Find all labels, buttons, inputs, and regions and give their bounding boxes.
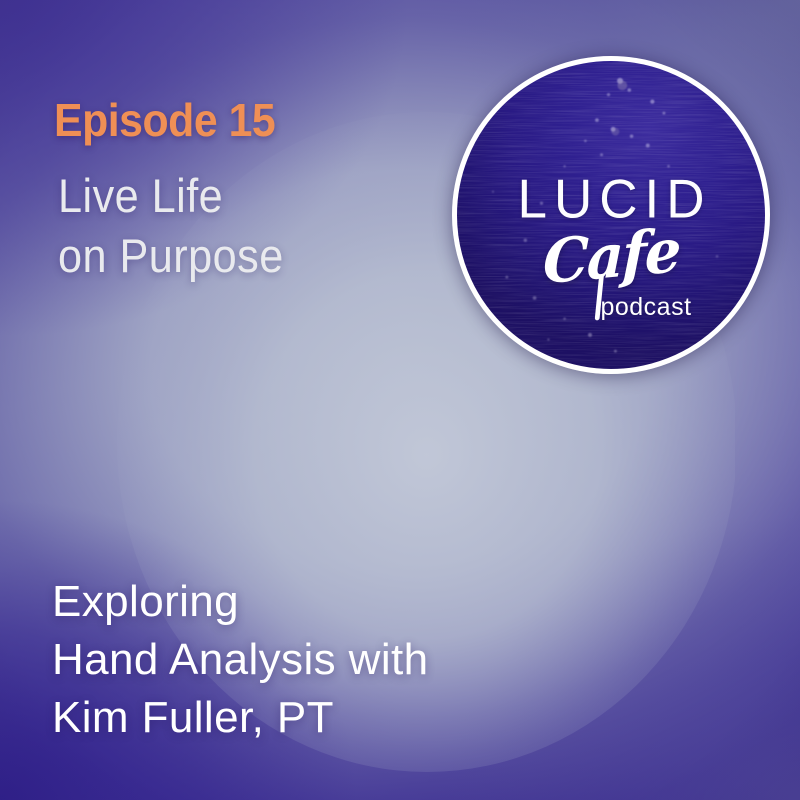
episode-title-block: Exploring Hand Analysis with Kim Fuller,… — [52, 573, 429, 747]
lucid-cafe-logo-badge: LUCID Cafe podcast — [452, 56, 770, 374]
episode-title-line-3: Kim Fuller, PT — [52, 689, 429, 747]
logo-script-text: Cafe — [542, 216, 680, 298]
podcast-cover-art: Episode 15 Live Life on Purpose — [0, 0, 800, 800]
show-tagline: Live Life on Purpose — [58, 166, 284, 286]
logo-subtitle: podcast — [600, 293, 691, 322]
tagline-line-2: on Purpose — [58, 226, 284, 286]
episode-title-line-1: Exploring — [52, 573, 429, 631]
logo-script-wrapper: Cafe — [542, 221, 679, 293]
logo-wordmark: LUCID — [510, 172, 711, 227]
tagline-line-1: Live Life — [58, 166, 284, 226]
episode-title-line-2: Hand Analysis with — [52, 631, 429, 689]
episode-number-label: Episode 15 — [54, 97, 275, 143]
